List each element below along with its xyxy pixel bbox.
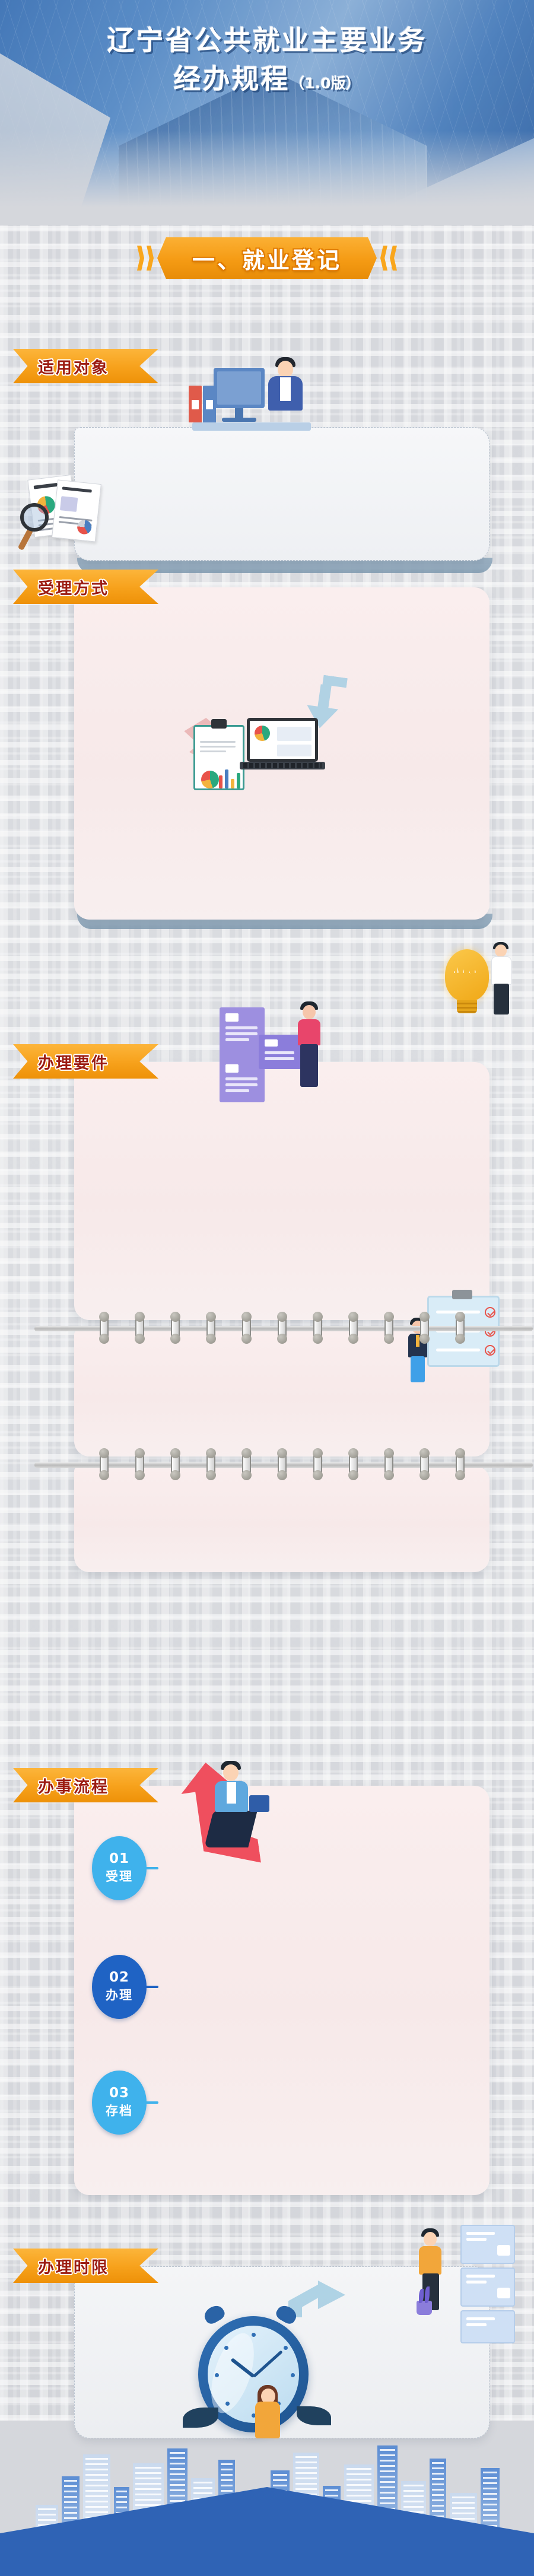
spiral-binding-divider [88,1316,479,1340]
hero-banner: 辽宁省公共就业主要业务 经办规程（1.0版） [0,0,534,237]
document-line [62,486,92,492]
laptop-keyboard [243,763,322,768]
locker-line [225,1038,249,1041]
clock-pip [215,2373,219,2377]
running-person-arrow-illustration [166,1756,297,1875]
document-image-block [60,496,78,512]
pie-chart-icon [77,519,92,535]
spiral-binding-divider [88,1452,479,1476]
page-title-line1: 辽宁省公共就业主要业务 [0,23,534,59]
step-number: 03 [109,2086,129,2100]
person-head [495,944,507,957]
info-panel [460,2267,515,2307]
clipboard-clamp [452,1290,472,1299]
step-badge-03: 03 存档 [92,2071,147,2135]
document-line [34,483,58,489]
decor-leaf [297,2406,331,2425]
person-shirt [280,377,291,401]
locker-line [225,1089,249,1092]
folder-icon [189,386,202,422]
timelimit-ribbon-text: 办理时限 [38,2254,109,2278]
monitor-screen [217,371,261,405]
clipboard-clamp [211,719,227,729]
step-name: 存档 [106,2101,133,2119]
requirements-ribbon-text: 办理要件 [38,1050,109,1073]
checklist-row [436,1349,480,1351]
info-panel [460,2225,515,2264]
decor-leaf [183,2408,218,2428]
locker-line [225,1026,258,1029]
document-line [200,750,226,752]
person-head [223,1764,239,1781]
requirements-notice-card [74,1465,490,1572]
timelimit-ribbon-label: 办理时限 [13,2249,158,2283]
person-body [491,956,511,985]
person-head [303,1005,316,1019]
applicable-ribbon-text: 适用对象 [38,355,109,378]
person-legs [411,1356,425,1382]
page-title: 辽宁省公共就业主要业务 经办规程（1.0版） [0,23,534,97]
section-banner-title: 一、就业登记 [157,237,377,279]
clock-pip [284,2346,288,2350]
clock-pip [224,2346,228,2350]
clipboard-icon [193,725,244,790]
person-shirt [227,1782,236,1804]
process-ribbon-label: 办事流程 [13,1768,158,1802]
clock-pip [252,2333,256,2337]
person-body [255,2402,280,2438]
info-panel [460,2310,515,2343]
page-title-line2: 经办规程（1.0版） [0,61,534,97]
person-legs [300,1044,318,1087]
locker-cabinet [220,1007,265,1102]
screen-block [277,745,311,756]
locker-label [225,1013,239,1022]
check-icon [485,1307,495,1318]
clock-pip [291,2373,295,2377]
person-head [424,2232,437,2246]
lockers-person-illustration [214,1001,338,1111]
step-name: 受理 [106,1867,133,1885]
acceptance-ribbon-text: 受理方式 [38,575,109,599]
locker-line [225,1032,258,1035]
step-number: 02 [109,1970,129,1985]
pie-chart-icon [255,726,270,741]
locker-line [265,1057,294,1060]
chevron-right-icon [390,246,397,271]
applicable-ribbon-label: 适用对象 [13,349,158,383]
lightbulb-icon [445,949,489,1001]
locker-label [225,1064,239,1073]
monitor-neck [235,408,243,418]
page-title-version: （1.0版） [290,75,360,92]
alarm-clock-illustration [178,2302,356,2456]
locker-line [225,1083,258,1086]
document-line [200,746,236,748]
requirements-ribbon-label: 办理要件 [13,1044,158,1079]
magnifier-handle [18,528,34,551]
step-number: 01 [109,1852,129,1866]
step-name: 办理 [106,1986,133,2003]
desk-worker-illustration [178,356,314,460]
chevron-right-icon [380,246,387,271]
step-badge-01: 01 受理 [92,1836,147,1900]
monitor-base [222,418,256,422]
search-icon [20,503,49,532]
step-connector [145,1986,158,1988]
step-connector [145,1867,158,1869]
document-line [200,741,236,743]
step-badge-02: 02 办理 [92,1955,147,2019]
lightbulb-base [457,1000,477,1013]
document-sheet [52,479,101,542]
documents-magnifier-illustration [17,469,112,564]
person-head [278,361,293,377]
hero-bottom-fade [0,131,534,237]
cabinet-person-illustration [415,2225,528,2343]
laptop-clipboard-illustration [190,712,338,801]
acceptance-ribbon-label: 受理方式 [13,570,158,604]
person-body [298,1019,320,1045]
desk-surface [192,422,311,431]
bar-chart-icon [219,768,243,788]
bell-icon [202,2303,227,2326]
locker-line [225,1077,258,1080]
laptop-screen [247,718,318,762]
section-banner: 一、就业登记 [133,237,401,279]
person-legs [494,984,509,1015]
person-legs [204,1811,257,1847]
process-ribbon-text: 办事流程 [38,1774,109,1797]
lightbulb-person-illustration [439,943,522,1032]
chevron-left-icon [147,246,154,271]
locker-line [265,1051,294,1054]
screen-block [277,727,311,741]
locker-cabinet [259,1035,301,1069]
pie-chart-icon [201,771,219,788]
person-body [419,2246,441,2275]
locker-label [265,1039,278,1047]
check-icon [485,1345,495,1356]
briefcase-icon [249,1795,269,1812]
chevron-left-icon [137,246,144,271]
step-connector [145,2101,158,2104]
clock-pip [225,2402,230,2406]
